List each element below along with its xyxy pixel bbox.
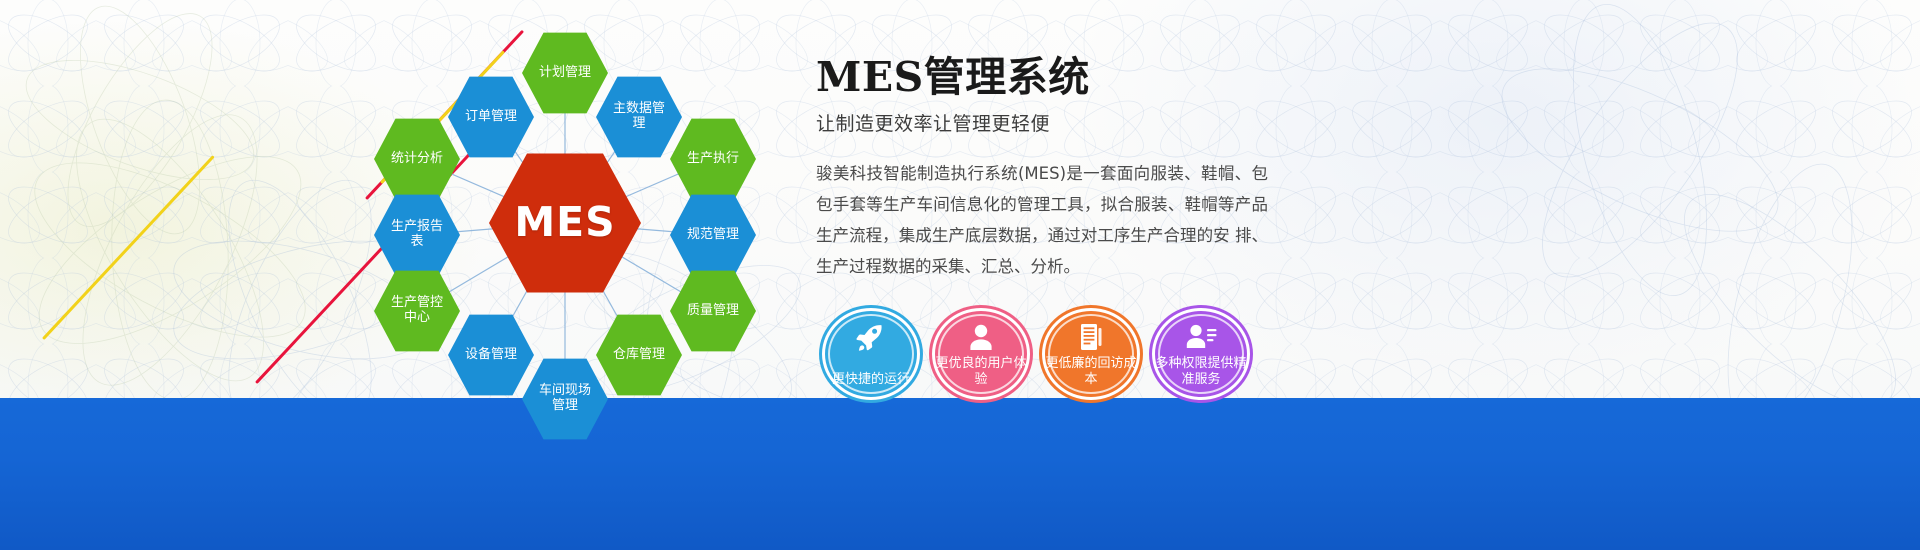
badge-label: 更低廉的回访成本 <box>1045 356 1137 388</box>
page-description: 骏美科技智能制造执行系统(MES)是一套面向服装、鞋帽、包包手套等生产车间信息化… <box>816 158 1268 282</box>
list-icon <box>1045 320 1137 354</box>
permissions-icon <box>1155 320 1247 354</box>
hex-label: 生产管控中心 <box>388 296 446 326</box>
badge-multiple-permissions[interactable]: 多种权限提供精准服务 <box>1152 308 1250 400</box>
badge-label: 更快捷的运行 <box>825 372 917 388</box>
badge-lower-revisit-cost[interactable]: 更低廉的回访成本 <box>1042 308 1140 400</box>
hex-label: 车间现场管理 <box>536 384 594 414</box>
hex-label: 生产报告表 <box>388 220 446 250</box>
page-subtitle: 让制造更效率让管理更轻便 <box>816 109 1286 136</box>
hex-label: 规范管理 <box>687 228 739 243</box>
badge-label: 更优良的用户体验 <box>935 356 1027 388</box>
background-blue-band <box>0 398 1920 550</box>
mes-hexagon-diagram: 计划管理订单管理主数据管理统计分析生产执行生产报告表规范管理生产管控中心质量管理… <box>330 8 800 438</box>
rocket-icon <box>825 320 917 354</box>
hex-label: 设备管理 <box>465 348 517 363</box>
feature-badge-list: 更快捷的运行更优良的用户体验更低廉的回访成本多种权限提供精准服务 <box>822 308 1262 404</box>
hex-core-label: MES <box>514 199 615 246</box>
user-icon <box>935 320 1027 354</box>
hex-label: 订单管理 <box>465 110 517 125</box>
hex-label: 生产执行 <box>687 152 739 167</box>
mes-hero-banner: 计划管理订单管理主数据管理统计分析生产执行生产报告表规范管理生产管控中心质量管理… <box>0 0 1920 550</box>
hex-label: 计划管理 <box>539 66 591 81</box>
page-title: MES管理系统 <box>816 56 1286 99</box>
hex-label: 质量管理 <box>687 304 739 319</box>
badge-better-user-experience[interactable]: 更优良的用户体验 <box>932 308 1030 400</box>
hero-text-column: MES管理系统 让制造更效率让管理更轻便 骏美科技智能制造执行系统(MES)是一… <box>816 56 1286 282</box>
hex-label: 仓库管理 <box>613 348 665 363</box>
badge-faster-operation[interactable]: 更快捷的运行 <box>822 308 920 400</box>
badge-label: 多种权限提供精准服务 <box>1155 356 1247 388</box>
hex-label: 统计分析 <box>391 152 443 167</box>
hex-label: 主数据管理 <box>610 102 668 132</box>
